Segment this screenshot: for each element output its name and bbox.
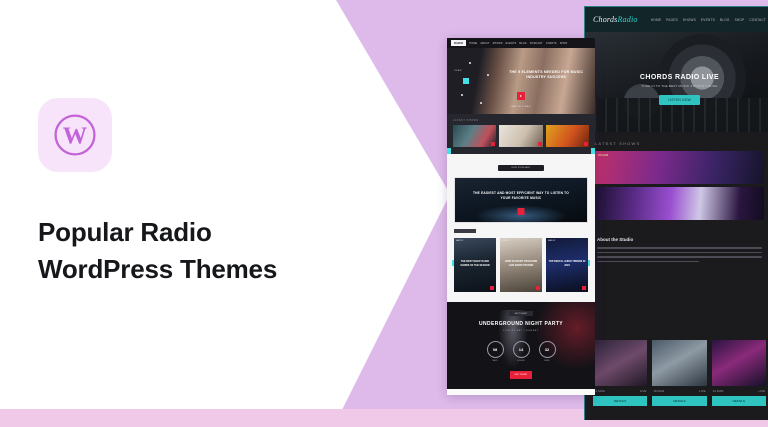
countdown-value: 32 — [539, 341, 556, 358]
hero-title: THE 5 ELEMENTS NEEDED FOR MUSIC INDUSTRY… — [503, 70, 589, 81]
teal-accent-square — [447, 148, 451, 154]
preview-nav-items: HOME PAGES SHOWS EVENTS BLOG SHOP CONTAC… — [651, 18, 766, 22]
event-status: LIVE — [699, 389, 706, 393]
news-card[interactable]: MAR 08 HOW TO START YOUR OWN LIVE RADIO … — [500, 238, 542, 292]
preview-footer: SUBSCRIBE — [447, 389, 595, 395]
sparkle-icon — [480, 102, 482, 104]
preview-hero-text: THE 5 ELEMENTS NEEDED FOR MUSIC INDUSTRY… — [503, 70, 589, 81]
page-title: Popular Radio WordPress Themes — [38, 214, 338, 289]
hero-cta-button[interactable]: WATCH VIDEO — [511, 106, 531, 108]
teal-accent-square — [591, 148, 595, 154]
countdown-label: HOURS — [513, 360, 530, 362]
nav-item: CHARTS — [546, 42, 557, 45]
countdown-value: 14 — [513, 341, 530, 358]
countdown-value: 08 — [487, 341, 504, 358]
event-button[interactable]: DETAILS — [652, 396, 706, 406]
preview-show-tiles: ON AIR — [585, 151, 768, 220]
nav-item: BLOG — [519, 42, 526, 45]
about-heading: About the Studio — [597, 237, 762, 242]
event-tag: NEXT EVENT — [509, 311, 533, 316]
news-section-label — [454, 229, 476, 233]
theme-preview-chords-radio[interactable]: ChordsRadio HOME PAGES SHOWS EVENTS BLOG… — [584, 6, 768, 420]
event-image — [712, 340, 766, 386]
nav-item: HOME — [651, 18, 661, 22]
play-badge-icon — [491, 142, 495, 146]
preview-top-section: RADIO HOME ABOUT SHOWS EVENTS BLOG PODCA… — [447, 38, 595, 154]
preview-shows-section: LATEST SHOWS — [447, 114, 595, 154]
nav-item: BLOG — [720, 18, 730, 22]
wordpress-logo-badge: W — [38, 98, 112, 172]
nav-item: SHOP — [560, 42, 568, 45]
preview-hero-text: CHORDS RADIO LIVE TUNE IN TO THE BEST MU… — [585, 74, 768, 106]
section-label: LATEST SHOWS — [585, 132, 768, 151]
event-image — [593, 340, 647, 386]
show-tile[interactable] — [595, 187, 764, 220]
event-card[interactable]: 18 MAR LIVE DETAILS — [652, 340, 706, 406]
nav-item: PODCAST — [530, 42, 543, 45]
nav-item: EVENTS — [506, 42, 517, 45]
feature-video[interactable]: THE EASIEST AND MOST EFFICIENT WAY TO LI… — [454, 177, 588, 223]
site-logo-script: Chords — [593, 15, 617, 24]
play-badge-icon — [584, 142, 588, 146]
event-countdown: 08 DAYS 14 HOURS 32 MINS — [454, 341, 588, 362]
event-cta-button[interactable]: GET TICKET — [510, 371, 532, 379]
news-card[interactable]: MAR 02 TOP DIGITAL AUDIO TRENDS IN 2023 — [546, 238, 588, 292]
countdown-unit: 08 DAYS — [487, 341, 504, 362]
tile-caption: ON AIR — [598, 153, 608, 157]
hero-title: CHORDS RADIO LIVE — [585, 74, 768, 81]
preview-event-grid: 12 MAR LIVE DETAILS 18 MAR LIVE DETAILS … — [585, 340, 768, 406]
countdown-label: DAYS — [487, 360, 504, 362]
preview-navbar: RADIO HOME ABOUT SHOWS EVENTS BLOG PODCA… — [447, 38, 595, 48]
event-card[interactable]: 12 MAR LIVE DETAILS — [593, 340, 647, 406]
section-label: LATEST SHOWS — [453, 119, 589, 122]
countdown-unit: 14 HOURS — [513, 341, 530, 362]
news-title: THE BEST NIGHT RADIO SHOWS OF THE SEASON — [457, 260, 494, 268]
sparkle-icon — [469, 62, 471, 64]
theme-preview-radio[interactable]: RADIO HOME ABOUT SHOWS EVENTS BLOG PODCA… — [447, 38, 595, 395]
nav-item: ABOUT — [480, 42, 489, 45]
event-card[interactable]: 24 MAR LIVE DETAILS — [712, 340, 766, 406]
show-card[interactable] — [499, 125, 542, 147]
news-date: MAR 12 — [456, 240, 463, 242]
video-title: THE EASIEST AND MOST EFFICIENT WAY TO LI… — [468, 191, 574, 201]
news-card[interactable]: MAR 12 THE BEST NIGHT RADIO SHOWS OF THE… — [454, 238, 496, 292]
sparkle-icon — [487, 74, 489, 76]
section-pill-label: OUR PODCAST — [511, 167, 530, 169]
show-card[interactable] — [453, 125, 496, 147]
about-paragraph — [597, 247, 762, 262]
play-badge-icon — [582, 286, 586, 290]
nav-item: HOME — [469, 42, 477, 45]
page-title-line1: Popular Radio — [38, 217, 212, 247]
news-title: TOP DIGITAL AUDIO TRENDS IN 2023 — [549, 260, 586, 268]
event-tag-label: NEXT EVENT — [515, 313, 528, 315]
event-meta: 12 MAR LIVE — [593, 386, 647, 393]
event-subtitle: LIVE DJ SET / SUNSET — [454, 330, 588, 332]
countdown-unit: 32 MINS — [539, 341, 556, 362]
play-icon — [520, 95, 522, 97]
teal-accent-square — [463, 78, 469, 84]
page-title-line2: WordPress Themes — [38, 251, 338, 288]
hero-meta: ON AIR — [454, 70, 461, 72]
preview-hero: ON AIR THE 5 ELEMENTS NEEDED FOR MUSIC I… — [447, 48, 595, 114]
site-logo: ChordsRadio — [593, 15, 638, 24]
news-card-row: MAR 12 THE BEST NIGHT RADIO SHOWS OF THE… — [454, 238, 588, 292]
event-button[interactable]: DETAILS — [712, 396, 766, 406]
preview-event-section: NEXT EVENT UNDERGROUND NIGHT PARTY LIVE … — [447, 302, 595, 389]
news-date: MAR 02 — [548, 240, 555, 242]
news-title: HOW TO START YOUR OWN LIVE RADIO STATION — [503, 260, 540, 268]
event-status: LIVE — [758, 389, 765, 393]
news-date: MAR 08 — [502, 240, 509, 242]
nav-item: CONTACT — [749, 18, 766, 22]
nav-item: PAGES — [666, 18, 678, 22]
hero-subtitle: TUNE IN TO THE BEST MUSIC STATION ONLINE — [585, 84, 768, 88]
video-play-badge[interactable] — [518, 208, 525, 215]
event-date: 12 MAR — [594, 389, 605, 393]
hero-cta-button[interactable]: LISTEN NOW — [659, 95, 700, 105]
event-title: UNDERGROUND NIGHT PARTY — [454, 321, 588, 327]
headline-block: W Popular Radio WordPress Themes — [38, 98, 338, 289]
play-badge-icon — [490, 286, 494, 290]
nav-item: EVENTS — [701, 18, 715, 22]
wordpress-logo-icon: W — [52, 112, 98, 158]
preview-hero: CHORDS RADIO LIVE TUNE IN TO THE BEST MU… — [585, 32, 768, 132]
event-image — [652, 340, 706, 386]
sparkle-icon — [461, 94, 463, 96]
svg-text:W: W — [63, 123, 88, 150]
preview-about-block: About the Studio — [585, 223, 768, 262]
preview-navbar: ChordsRadio HOME PAGES SHOWS EVENTS BLOG… — [585, 7, 768, 32]
event-button[interactable]: DETAILS — [593, 396, 647, 406]
play-button[interactable] — [517, 92, 525, 100]
event-meta: 24 MAR LIVE — [712, 386, 766, 393]
event-meta: 18 MAR LIVE — [652, 386, 706, 393]
site-logo: RADIO — [451, 40, 466, 46]
shows-row — [453, 125, 589, 147]
countdown-label: MINS — [539, 360, 556, 362]
show-card[interactable] — [546, 125, 589, 147]
preview-feature-section: OUR PODCAST THE EASIEST AND MOST EFFICIE… — [447, 154, 595, 302]
event-date: 24 MAR — [713, 389, 724, 393]
nav-item: SHOP — [735, 18, 745, 22]
show-tile[interactable]: ON AIR — [595, 151, 764, 184]
play-badge-icon — [538, 142, 542, 146]
section-pill: OUR PODCAST — [498, 165, 544, 171]
play-badge-icon — [536, 286, 540, 290]
site-logo-accent: Radio — [617, 15, 637, 24]
event-status: LIVE — [640, 389, 647, 393]
nav-item: SHOWS — [683, 18, 696, 22]
event-date: 18 MAR — [653, 389, 664, 393]
nav-item: SHOWS — [493, 42, 503, 45]
